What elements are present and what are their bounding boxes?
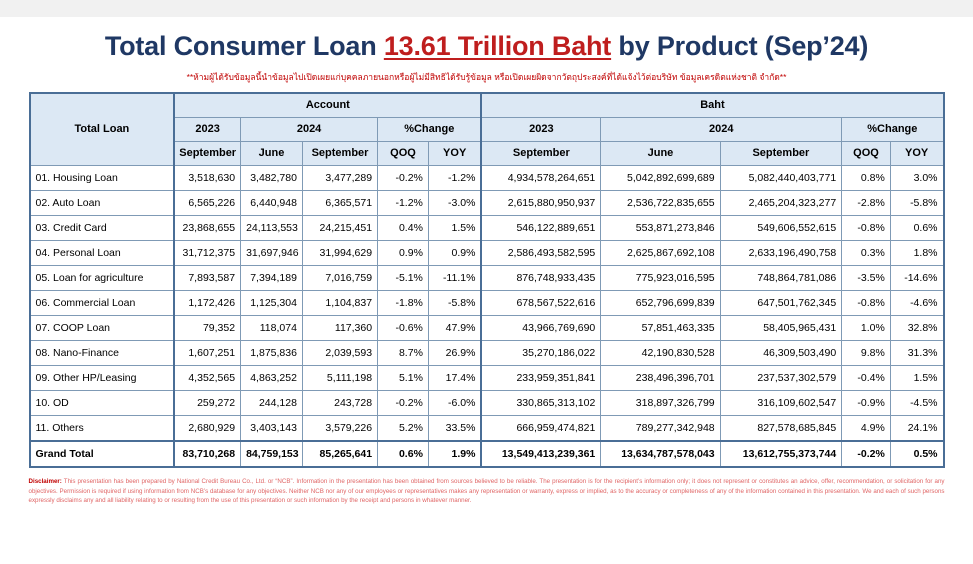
table-row: 07. COOP Loan79,352118,074117,360-0.6%47… bbox=[30, 316, 944, 341]
row-label: Grand Total bbox=[30, 441, 175, 467]
cell-acct-qoq: -5.1% bbox=[378, 266, 429, 291]
thai-confidentiality-note: **ห้ามผู้ได้รับข้อมูลนี้นำข้อมูลไปเปิดเผ… bbox=[0, 72, 973, 82]
row-label: 07. COOP Loan bbox=[30, 316, 175, 341]
cell-acct-qoq: 8.7% bbox=[378, 341, 429, 366]
cell-baht-2023-sep: 2,615,880,950,937 bbox=[481, 191, 600, 216]
cell-acct-qoq: 5.2% bbox=[378, 416, 429, 442]
cell-acct-2024-sep: 6,365,571 bbox=[302, 191, 377, 216]
cell-baht-2024-sep: 748,864,781,086 bbox=[720, 266, 842, 291]
cell-acct-2024-jun: 31,697,946 bbox=[241, 241, 303, 266]
cell-baht-yoy: -4.6% bbox=[890, 291, 943, 316]
cell-acct-2024-jun: 24,113,553 bbox=[241, 216, 303, 241]
cell-acct-2024-jun: 1,875,836 bbox=[241, 341, 303, 366]
cell-baht-qoq: -0.8% bbox=[842, 216, 891, 241]
row-label: 05. Loan for agriculture bbox=[30, 266, 175, 291]
title-highlight-amount: 13.61 Trillion Baht bbox=[384, 31, 611, 61]
cell-baht-yoy: -14.6% bbox=[890, 266, 943, 291]
cell-acct-2024-jun: 244,128 bbox=[241, 391, 303, 416]
cell-baht-yoy: 1.8% bbox=[890, 241, 943, 266]
table-row: 11. Others2,680,9293,403,1433,579,2265.2… bbox=[30, 416, 944, 442]
header-account-change: %Change bbox=[378, 118, 482, 142]
cell-acct-yoy: -3.0% bbox=[428, 191, 481, 216]
cell-baht-qoq: 0.8% bbox=[842, 166, 891, 191]
table-row: 10. OD259,272244,128243,728-0.2%-6.0%330… bbox=[30, 391, 944, 416]
cell-baht-2024-sep: 237,537,302,579 bbox=[720, 366, 842, 391]
row-label: 08. Nano-Finance bbox=[30, 341, 175, 366]
row-label: 11. Others bbox=[30, 416, 175, 442]
cell-baht-yoy: 3.0% bbox=[890, 166, 943, 191]
cell-acct-yoy: -5.8% bbox=[428, 291, 481, 316]
cell-acct-yoy: 26.9% bbox=[428, 341, 481, 366]
table-head: Total Loan Account Baht 2023 2024 %Chang… bbox=[30, 93, 944, 166]
cell-acct-2024-sep: 7,016,759 bbox=[302, 266, 377, 291]
header-account-qoq: QOQ bbox=[378, 142, 429, 166]
header-baht-change: %Change bbox=[842, 118, 944, 142]
cell-baht-2023-sep: 546,122,889,651 bbox=[481, 216, 600, 241]
header-baht-yoy: YOY bbox=[890, 142, 943, 166]
cell-acct-yoy: 47.9% bbox=[428, 316, 481, 341]
cell-baht-qoq: -3.5% bbox=[842, 266, 891, 291]
cell-baht-qoq: -0.9% bbox=[842, 391, 891, 416]
cell-acct-qoq: 0.6% bbox=[378, 441, 429, 467]
cell-acct-2024-sep: 243,728 bbox=[302, 391, 377, 416]
table-row: 03. Credit Card23,868,65524,113,55324,21… bbox=[30, 216, 944, 241]
title-part-1: Total Consumer Loan bbox=[105, 31, 384, 61]
header-baht-2024: 2024 bbox=[601, 118, 842, 142]
cell-acct-2024-sep: 1,104,837 bbox=[302, 291, 377, 316]
row-label: 04. Personal Loan bbox=[30, 241, 175, 266]
table-row: 04. Personal Loan31,712,37531,697,94631,… bbox=[30, 241, 944, 266]
cell-acct-yoy: 1.9% bbox=[428, 441, 481, 467]
cell-baht-2023-sep: 13,549,413,239,361 bbox=[481, 441, 600, 467]
cell-acct-yoy: -1.2% bbox=[428, 166, 481, 191]
cell-baht-2024-sep: 316,109,602,547 bbox=[720, 391, 842, 416]
header-account-2024-june: June bbox=[241, 142, 303, 166]
cell-acct-2023-sep: 6,565,226 bbox=[174, 191, 240, 216]
table-row: 05. Loan for agriculture7,893,5877,394,1… bbox=[30, 266, 944, 291]
cell-acct-qoq: -0.2% bbox=[378, 391, 429, 416]
header-account-2024-september: September bbox=[302, 142, 377, 166]
cell-baht-2024-sep: 58,405,965,431 bbox=[720, 316, 842, 341]
cell-acct-2023-sep: 83,710,268 bbox=[174, 441, 240, 467]
cell-acct-2024-sep: 3,477,289 bbox=[302, 166, 377, 191]
row-label: 01. Housing Loan bbox=[30, 166, 175, 191]
cell-baht-yoy: 31.3% bbox=[890, 341, 943, 366]
cell-baht-2024-jun: 553,871,273,846 bbox=[601, 216, 720, 241]
header-baht-2024-june: June bbox=[601, 142, 720, 166]
cell-acct-qoq: 5.1% bbox=[378, 366, 429, 391]
cell-baht-qoq: 0.3% bbox=[842, 241, 891, 266]
cell-acct-yoy: 1.5% bbox=[428, 216, 481, 241]
row-label: 02. Auto Loan bbox=[30, 191, 175, 216]
cell-acct-qoq: -0.6% bbox=[378, 316, 429, 341]
cell-acct-2024-jun: 84,759,153 bbox=[241, 441, 303, 467]
cell-baht-2024-jun: 5,042,892,699,689 bbox=[601, 166, 720, 191]
cell-baht-qoq: -0.8% bbox=[842, 291, 891, 316]
cell-acct-2024-jun: 3,482,780 bbox=[241, 166, 303, 191]
table-row-grand-total: Grand Total83,710,26884,759,15385,265,64… bbox=[30, 441, 944, 467]
cell-acct-2023-sep: 79,352 bbox=[174, 316, 240, 341]
cell-acct-2024-sep: 2,039,593 bbox=[302, 341, 377, 366]
cell-acct-2024-sep: 85,265,641 bbox=[302, 441, 377, 467]
cell-acct-2023-sep: 3,518,630 bbox=[174, 166, 240, 191]
cell-acct-2024-jun: 118,074 bbox=[241, 316, 303, 341]
loan-table-wrapper: Total Loan Account Baht 2023 2024 %Chang… bbox=[29, 92, 945, 468]
disclaimer: Disclaimer: This presentation has been p… bbox=[29, 477, 945, 506]
row-label: 06. Commercial Loan bbox=[30, 291, 175, 316]
cell-acct-yoy: 33.5% bbox=[428, 416, 481, 442]
header-row-group: Total Loan Account Baht bbox=[30, 93, 944, 118]
cell-acct-2024-jun: 1,125,304 bbox=[241, 291, 303, 316]
table-row: 09. Other HP/Leasing4,352,5654,863,2525,… bbox=[30, 366, 944, 391]
header-account-yoy: YOY bbox=[428, 142, 481, 166]
cell-baht-2024-jun: 318,897,326,799 bbox=[601, 391, 720, 416]
cell-acct-yoy: 17.4% bbox=[428, 366, 481, 391]
table-row: 01. Housing Loan3,518,6303,482,7803,477,… bbox=[30, 166, 944, 191]
cell-acct-2024-sep: 5,111,198 bbox=[302, 366, 377, 391]
cell-acct-2023-sep: 7,893,587 bbox=[174, 266, 240, 291]
cell-baht-2024-jun: 238,496,396,701 bbox=[601, 366, 720, 391]
cell-baht-2024-sep: 647,501,762,345 bbox=[720, 291, 842, 316]
cell-baht-2024-sep: 2,465,204,323,277 bbox=[720, 191, 842, 216]
cell-baht-2024-jun: 652,796,699,839 bbox=[601, 291, 720, 316]
cell-baht-2023-sep: 678,567,522,616 bbox=[481, 291, 600, 316]
cell-acct-qoq: 0.9% bbox=[378, 241, 429, 266]
header-group-baht: Baht bbox=[481, 93, 943, 118]
slide-canvas: Total Consumer Loan 13.61 Trillion Baht … bbox=[0, 17, 973, 564]
cell-acct-2023-sep: 4,352,565 bbox=[174, 366, 240, 391]
cell-baht-yoy: -4.5% bbox=[890, 391, 943, 416]
cell-acct-2024-jun: 3,403,143 bbox=[241, 416, 303, 442]
row-label: 09. Other HP/Leasing bbox=[30, 366, 175, 391]
cell-acct-qoq: 0.4% bbox=[378, 216, 429, 241]
page-title: Total Consumer Loan 13.61 Trillion Baht … bbox=[0, 31, 973, 62]
cell-baht-yoy: 1.5% bbox=[890, 366, 943, 391]
cell-acct-qoq: -0.2% bbox=[378, 166, 429, 191]
cell-baht-2024-sep: 13,612,755,373,744 bbox=[720, 441, 842, 467]
cell-baht-2023-sep: 876,748,933,435 bbox=[481, 266, 600, 291]
cell-baht-2023-sep: 43,966,769,690 bbox=[481, 316, 600, 341]
cell-baht-2023-sep: 666,959,474,821 bbox=[481, 416, 600, 442]
table-body: 01. Housing Loan3,518,6303,482,7803,477,… bbox=[30, 166, 944, 468]
cell-baht-yoy: 24.1% bbox=[890, 416, 943, 442]
cell-baht-yoy: -5.8% bbox=[890, 191, 943, 216]
header-total-loan: Total Loan bbox=[30, 93, 175, 166]
cell-baht-2024-sep: 5,082,440,403,771 bbox=[720, 166, 842, 191]
cell-baht-2024-sep: 549,606,552,615 bbox=[720, 216, 842, 241]
cell-baht-2024-jun: 789,277,342,948 bbox=[601, 416, 720, 442]
cell-baht-2024-sep: 46,309,503,490 bbox=[720, 341, 842, 366]
title-part-2: by Product (Sep’24) bbox=[611, 31, 868, 61]
cell-baht-2023-sep: 233,959,351,841 bbox=[481, 366, 600, 391]
cell-acct-qoq: -1.8% bbox=[378, 291, 429, 316]
disclaimer-body: This presentation has been prepared by N… bbox=[29, 478, 945, 504]
cell-baht-qoq: 4.9% bbox=[842, 416, 891, 442]
cell-acct-2024-jun: 6,440,948 bbox=[241, 191, 303, 216]
cell-baht-2024-sep: 2,633,196,490,758 bbox=[720, 241, 842, 266]
cell-acct-2024-sep: 117,360 bbox=[302, 316, 377, 341]
consumer-loan-table: Total Loan Account Baht 2023 2024 %Chang… bbox=[29, 92, 945, 468]
cell-baht-2023-sep: 2,586,493,582,595 bbox=[481, 241, 600, 266]
cell-acct-2023-sep: 23,868,655 bbox=[174, 216, 240, 241]
table-row: 02. Auto Loan6,565,2266,440,9486,365,571… bbox=[30, 191, 944, 216]
table-row: 06. Commercial Loan1,172,4261,125,3041,1… bbox=[30, 291, 944, 316]
cell-baht-2024-jun: 42,190,830,528 bbox=[601, 341, 720, 366]
cell-baht-qoq: 1.0% bbox=[842, 316, 891, 341]
cell-baht-yoy: 0.5% bbox=[890, 441, 943, 467]
cell-baht-2023-sep: 330,865,313,102 bbox=[481, 391, 600, 416]
cell-baht-2024-jun: 2,625,867,692,108 bbox=[601, 241, 720, 266]
header-baht-2023-september: September bbox=[481, 142, 600, 166]
cell-acct-2023-sep: 1,172,426 bbox=[174, 291, 240, 316]
cell-acct-2023-sep: 259,272 bbox=[174, 391, 240, 416]
cell-acct-yoy: -11.1% bbox=[428, 266, 481, 291]
cell-acct-2024-sep: 31,994,629 bbox=[302, 241, 377, 266]
cell-baht-2023-sep: 35,270,186,022 bbox=[481, 341, 600, 366]
cell-acct-2023-sep: 2,680,929 bbox=[174, 416, 240, 442]
disclaimer-lead: Disclaimer: bbox=[29, 478, 62, 485]
cell-baht-qoq: 9.8% bbox=[842, 341, 891, 366]
cell-acct-2024-sep: 3,579,226 bbox=[302, 416, 377, 442]
cell-baht-qoq: -0.2% bbox=[842, 441, 891, 467]
cell-acct-2024-jun: 7,394,189 bbox=[241, 266, 303, 291]
cell-acct-2023-sep: 31,712,375 bbox=[174, 241, 240, 266]
row-label: 10. OD bbox=[30, 391, 175, 416]
header-account-2023-september: September bbox=[174, 142, 240, 166]
cell-baht-yoy: 0.6% bbox=[890, 216, 943, 241]
cell-baht-2023-sep: 4,934,578,264,651 bbox=[481, 166, 600, 191]
cell-baht-qoq: -2.8% bbox=[842, 191, 891, 216]
cell-acct-yoy: -6.0% bbox=[428, 391, 481, 416]
top-strip bbox=[0, 0, 973, 17]
cell-baht-yoy: 32.8% bbox=[890, 316, 943, 341]
header-account-2023: 2023 bbox=[174, 118, 240, 142]
cell-baht-2024-jun: 13,634,787,578,043 bbox=[601, 441, 720, 467]
cell-baht-2024-jun: 57,851,463,335 bbox=[601, 316, 720, 341]
table-row: 08. Nano-Finance1,607,2511,875,8362,039,… bbox=[30, 341, 944, 366]
header-account-2024: 2024 bbox=[241, 118, 378, 142]
cell-acct-2024-jun: 4,863,252 bbox=[241, 366, 303, 391]
header-baht-2024-september: September bbox=[720, 142, 842, 166]
cell-acct-2023-sep: 1,607,251 bbox=[174, 341, 240, 366]
cell-baht-2024-jun: 775,923,016,595 bbox=[601, 266, 720, 291]
cell-acct-qoq: -1.2% bbox=[378, 191, 429, 216]
header-baht-2023: 2023 bbox=[481, 118, 600, 142]
cell-baht-2024-sep: 827,578,685,845 bbox=[720, 416, 842, 442]
header-group-account: Account bbox=[174, 93, 481, 118]
header-baht-qoq: QOQ bbox=[842, 142, 891, 166]
cell-acct-yoy: 0.9% bbox=[428, 241, 481, 266]
cell-baht-qoq: -0.4% bbox=[842, 366, 891, 391]
row-label: 03. Credit Card bbox=[30, 216, 175, 241]
cell-baht-2024-jun: 2,536,722,835,655 bbox=[601, 191, 720, 216]
cell-acct-2024-sep: 24,215,451 bbox=[302, 216, 377, 241]
